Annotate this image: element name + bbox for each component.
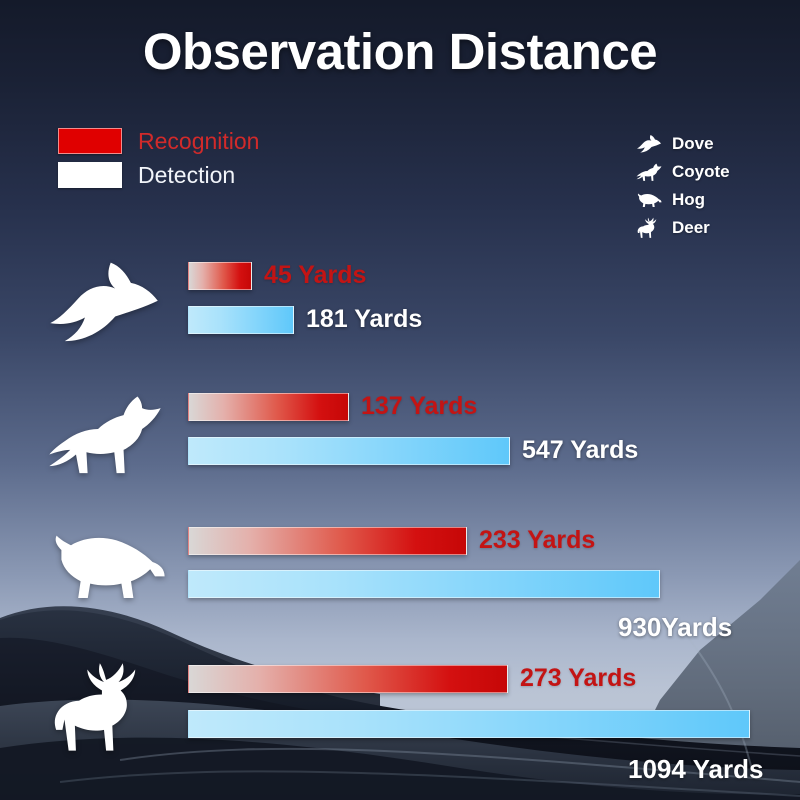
legend-label-detection: Detection [138, 162, 235, 189]
coyote-icon [44, 384, 166, 488]
bar-row-recognition: 137 Yards [188, 392, 477, 421]
bar-value-recognition-coyote: 137 Yards [361, 392, 477, 421]
infographic-canvas: Observation Distance Recognition Detecti… [0, 0, 800, 800]
legend-item-detection[interactable]: Detection [58, 158, 259, 192]
bar-detection-hog[interactable] [188, 570, 660, 598]
bar-value-detection-deer: 1094 Yards [628, 754, 763, 785]
legend-item-recognition[interactable]: Recognition [58, 124, 259, 158]
bar-group-hog: 233 Yards 930Yards [0, 512, 800, 642]
bar-recognition-hog[interactable] [188, 527, 467, 555]
bar-row-recognition: 233 Yards [188, 526, 595, 555]
key-item-deer[interactable]: Deer [634, 214, 750, 242]
bar-row-detection: 181 Yards [188, 305, 422, 334]
bar-row-recognition: 45 Yards [188, 261, 366, 290]
key-item-coyote[interactable]: Coyote [634, 158, 750, 186]
legend-label-recognition: Recognition [138, 128, 259, 155]
bar-group-coyote: 137 Yards 547 Yards [0, 378, 800, 498]
animal-key: Dove Coyote Hog Deer [634, 130, 750, 242]
bar-row-detection: 1094 Yards [188, 710, 750, 738]
dove-icon [634, 132, 664, 156]
bar-value-recognition-deer: 273 Yards [520, 664, 636, 693]
key-label-coyote: Coyote [672, 162, 730, 182]
legend-swatch-recognition [58, 128, 122, 154]
bar-detection-coyote[interactable] [188, 437, 510, 465]
bar-group-dove: 45 Yards 181 Yards [0, 245, 800, 360]
legend: Recognition Detection [58, 124, 259, 192]
bar-row-detection: 547 Yards [188, 436, 638, 465]
bar-value-recognition-hog: 233 Yards [479, 526, 595, 555]
deer-icon [44, 648, 164, 768]
bar-value-detection-dove: 181 Yards [306, 305, 422, 334]
key-label-hog: Hog [672, 190, 705, 210]
bar-row-detection: 930Yards [188, 570, 660, 598]
dove-icon [44, 253, 164, 353]
bar-row-recognition: 273 Yards [188, 664, 636, 693]
key-label-dove: Dove [672, 134, 714, 154]
bar-detection-deer[interactable] [188, 710, 750, 738]
deer-icon [634, 216, 664, 240]
hog-icon [44, 520, 170, 616]
legend-swatch-detection [58, 162, 122, 188]
bar-recognition-coyote[interactable] [188, 393, 349, 421]
coyote-icon [634, 160, 664, 184]
bar-value-recognition-dove: 45 Yards [264, 261, 366, 290]
key-item-hog[interactable]: Hog [634, 186, 750, 214]
bar-value-detection-coyote: 547 Yards [522, 436, 638, 465]
bar-detection-dove[interactable] [188, 306, 294, 334]
key-item-dove[interactable]: Dove [634, 130, 750, 158]
hog-icon [634, 188, 664, 212]
key-label-deer: Deer [672, 218, 710, 238]
bar-value-detection-hog: 930Yards [618, 612, 732, 643]
page-title: Observation Distance [0, 22, 800, 81]
bar-recognition-deer[interactable] [188, 665, 508, 693]
bar-recognition-dove[interactable] [188, 262, 252, 290]
bar-group-deer: 273 Yards 1094 Yards [0, 648, 800, 788]
